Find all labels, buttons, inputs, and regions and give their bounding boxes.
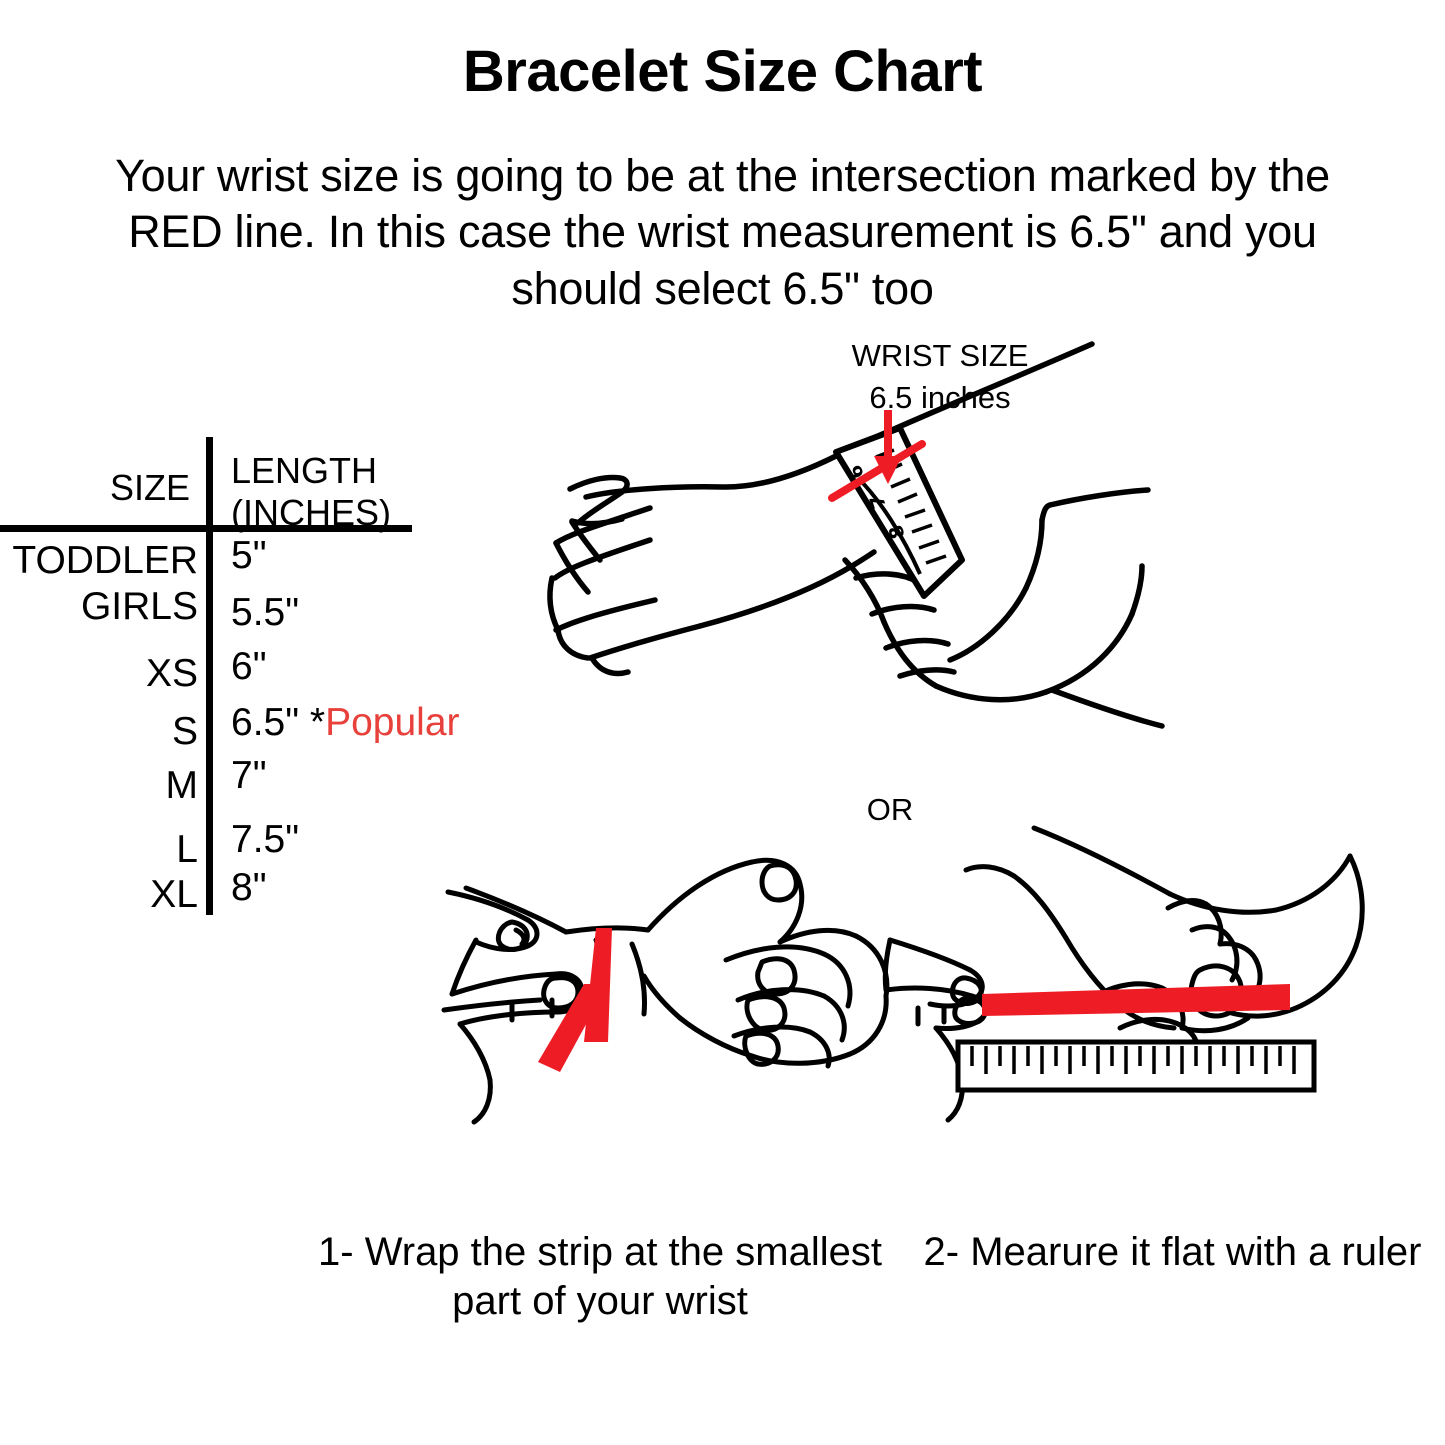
table-row-size-3: S xyxy=(0,710,198,754)
table-row-length-1: 5.5" xyxy=(231,591,531,635)
table-vertical-divider xyxy=(206,437,213,915)
caption-step-2: 2- Mearure it flat with a ruler xyxy=(900,1228,1445,1277)
table-row-length-5: 7.5" xyxy=(231,818,531,862)
popular-star: * xyxy=(310,701,325,744)
wrist-size-callout-line1: WRIST SIZE xyxy=(700,335,1180,377)
table-row-length-3-value: 6.5" xyxy=(231,701,299,744)
size-chart-page: Bracelet Size Chart Your wrist size is g… xyxy=(0,0,1445,1445)
table-row-length-0: 5" xyxy=(231,534,531,578)
table-header-length: LENGTH (INCHES) xyxy=(231,450,491,535)
red-strip-flat xyxy=(982,984,1290,1016)
strip-mark-7: 7 xyxy=(866,492,891,511)
table-row-size-4: M xyxy=(0,764,198,808)
table-row-size-1: GIRLS xyxy=(0,585,198,629)
measuring-strip: 6 7 8 xyxy=(836,428,962,596)
table-row-size-6: XL xyxy=(0,873,198,917)
table-row-length-3: 6.5" *Popular xyxy=(231,701,531,745)
strip-mark-8: 8 xyxy=(885,522,910,541)
table-row-length-4: 7" xyxy=(231,754,531,798)
red-strip-wrapped xyxy=(538,928,612,1072)
table-row-size-2: XS xyxy=(0,652,198,696)
page-subtitle: Your wrist size is going to be at the in… xyxy=(95,148,1350,317)
table-header-length-line2: (INCHES) xyxy=(231,492,491,534)
or-separator-label: OR xyxy=(790,792,990,828)
table-row-size-0: TODDLER xyxy=(0,539,198,583)
red-intersection-line xyxy=(832,444,922,498)
wrist-size-callout-line2: 6.5 inches xyxy=(700,377,1180,419)
table-row-length-6: 8" xyxy=(231,866,531,910)
table-header-length-line1: LENGTH xyxy=(231,450,491,492)
caption-step-1: 1- Wrap the strip at the smallest part o… xyxy=(290,1228,910,1326)
red-arrow-head xyxy=(874,456,902,484)
table-row-size-5: L xyxy=(0,828,198,872)
ruler xyxy=(958,1042,1314,1090)
wrist-size-callout: WRIST SIZE 6.5 inches xyxy=(700,335,1180,419)
table-row-length-2: 6" xyxy=(231,645,531,689)
page-title: Bracelet Size Chart xyxy=(0,42,1445,103)
popular-badge: Popular xyxy=(325,701,459,744)
table-header-size: SIZE xyxy=(0,467,190,509)
strip-mark-6: 6 xyxy=(844,462,869,481)
red-measurement-indicator xyxy=(832,410,922,498)
